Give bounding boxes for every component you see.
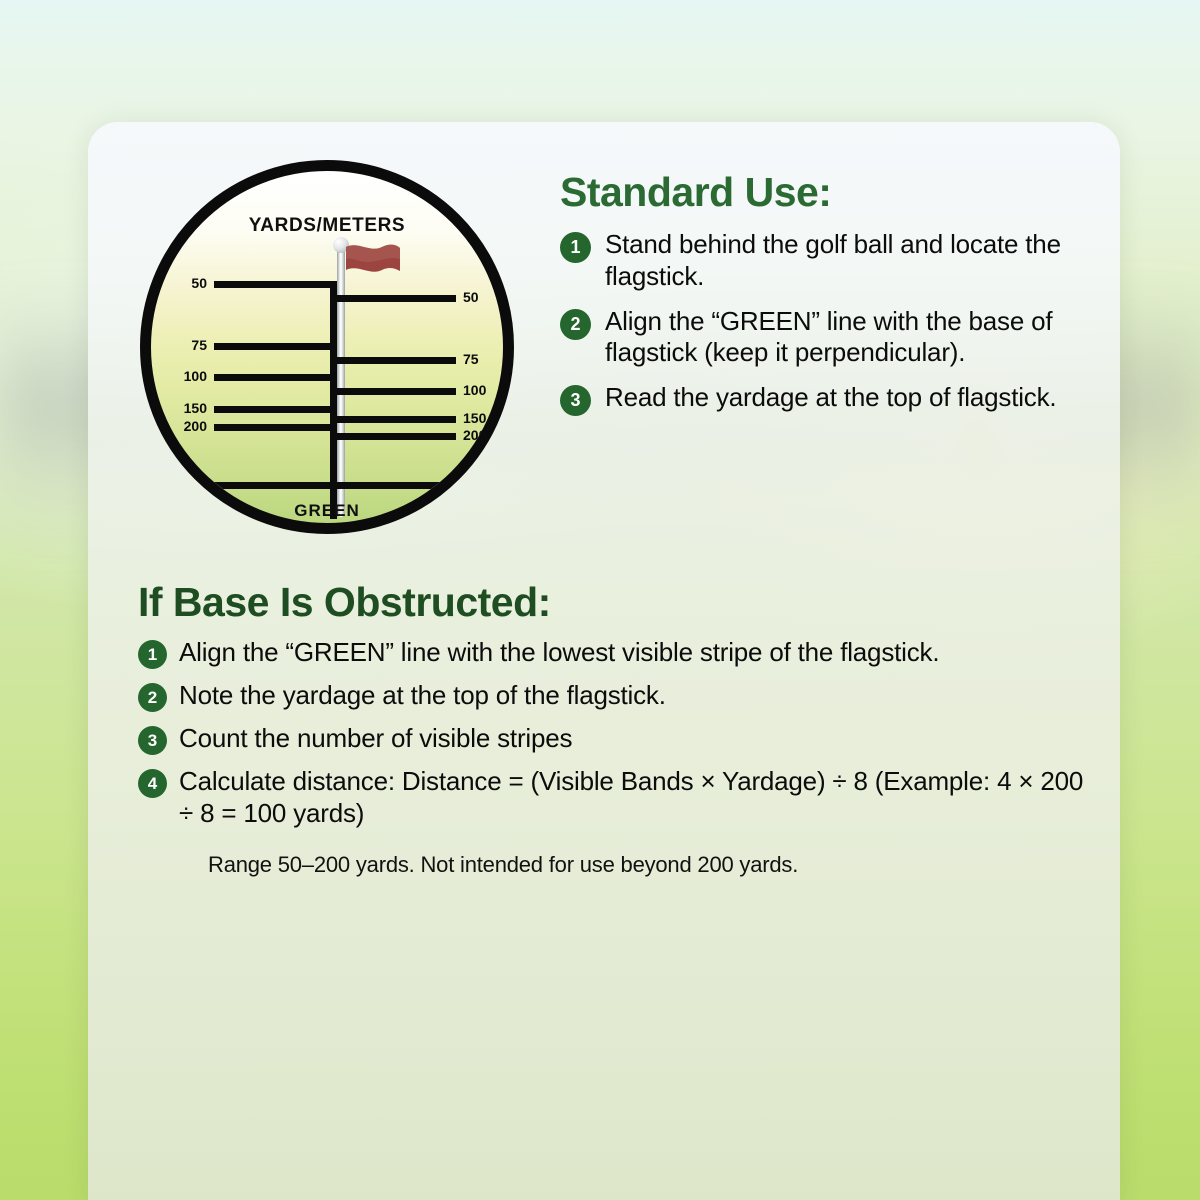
obstructed-text-2: Note the yardage at the top of the flags… [179, 680, 666, 712]
obstructed-step: 1 Align the “GREEN” line with the lowest… [138, 637, 1090, 669]
rangefinder-scope-diagram: YARDS/METERS 50 75 100 150 200 [140, 160, 514, 534]
right-tick-label-200: 200 [463, 427, 514, 443]
obstructed-text-4: Calculate distance: Distance = (Visible … [179, 766, 1090, 829]
range-footnote: Range 50–200 yards. Not intended for use… [208, 852, 1090, 878]
left-rule-200 [214, 424, 337, 431]
right-tick-label-75: 75 [463, 351, 514, 367]
standard-use-step: 3 Read the yardage at the top of flagsti… [560, 382, 1080, 416]
obstructed-heading: If Base Is Obstructed: [138, 580, 1090, 625]
green-baseline-label: GREEN [151, 501, 503, 521]
left-tick-label-50: 50 [161, 275, 207, 291]
step-text-3: Read the yardage at the top of flagstick… [605, 382, 1056, 414]
instruction-card: YARDS/METERS 50 75 100 150 200 [88, 122, 1120, 1200]
standard-use-step: 2 Align the “GREEN” line with the base o… [560, 306, 1080, 369]
left-rule-50 [214, 281, 337, 288]
scope-lens: YARDS/METERS 50 75 100 150 200 [140, 160, 514, 534]
standard-use-section: Standard Use: 1 Stand behind the golf ba… [560, 170, 1080, 429]
obstructed-step: 4 Calculate distance: Distance = (Visibl… [138, 766, 1090, 829]
step-badge-2: 2 [560, 309, 591, 340]
right-rule-200 [337, 433, 456, 440]
scope-title-label: YARDS/METERS [151, 215, 503, 237]
obstructed-badge-4: 4 [138, 769, 167, 798]
right-tick-label-100: 100 [463, 382, 514, 398]
left-tick-label-100: 100 [155, 368, 207, 384]
left-rule-100 [214, 374, 337, 381]
flag-icon [344, 243, 402, 287]
right-tick-label-150: 150 [463, 410, 514, 426]
right-rule-150 [337, 416, 456, 423]
right-rule-75 [337, 357, 456, 364]
obstructed-badge-3: 3 [138, 726, 167, 755]
flagstick-pole [337, 247, 345, 517]
left-tick-label-200: 200 [155, 418, 207, 434]
obstructed-text-1: Align the “GREEN” line with the lowest v… [179, 637, 939, 669]
standard-use-step: 1 Stand behind the golf ball and locate … [560, 229, 1080, 292]
obstructed-text-3: Count the number of visible stripes [179, 723, 572, 755]
left-tick-label-75: 75 [161, 337, 207, 353]
obstructed-step: 2 Note the yardage at the top of the fla… [138, 680, 1090, 712]
left-rule-150 [214, 406, 337, 413]
obstructed-step: 3 Count the number of visible stripes [138, 723, 1090, 755]
left-tick-label-150: 150 [155, 400, 207, 416]
right-rule-100 [337, 388, 456, 395]
step-badge-1: 1 [560, 232, 591, 263]
step-text-1: Stand behind the golf ball and locate th… [605, 229, 1080, 292]
obstructed-badge-1: 1 [138, 640, 167, 669]
step-badge-3: 3 [560, 385, 591, 416]
step-text-2: Align the “GREEN” line with the base of … [605, 306, 1080, 369]
left-rule-75 [214, 343, 337, 350]
standard-use-heading: Standard Use: [560, 170, 1080, 215]
right-tick-label-50: 50 [463, 289, 514, 305]
obstructed-section: If Base Is Obstructed: 1 Align the “GREE… [138, 580, 1090, 878]
obstructed-badge-2: 2 [138, 683, 167, 712]
green-baseline-rule [214, 482, 461, 489]
right-rule-50 [337, 295, 456, 302]
